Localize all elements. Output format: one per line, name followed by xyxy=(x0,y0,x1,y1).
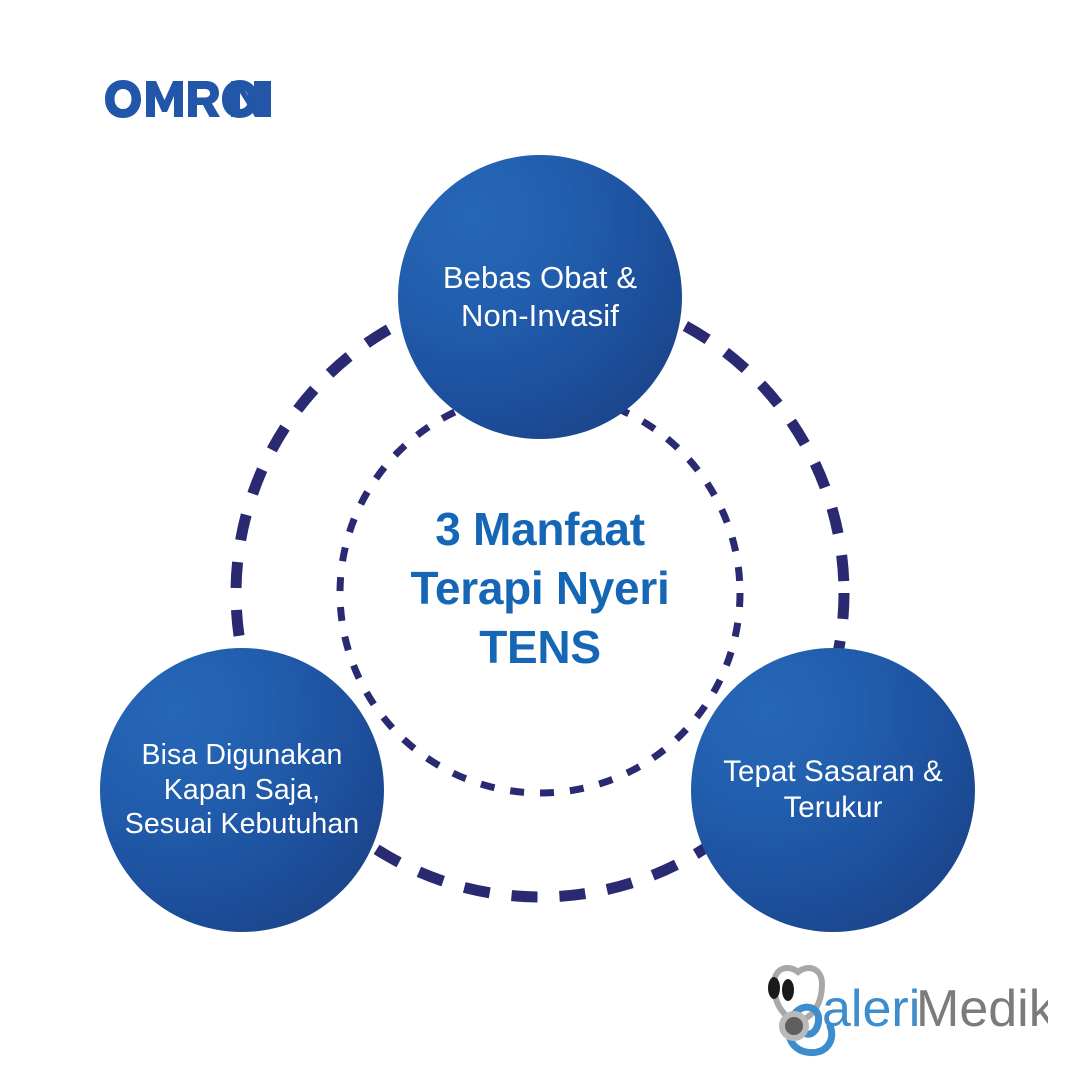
galeri-medika-watermark: aleri Medika xyxy=(752,962,1048,1058)
infographic-canvas: Bebas Obat & Non-Invasif Bisa Digunakan … xyxy=(0,0,1080,1080)
benefit-label-kapan-saja: Bisa Digunakan Kapan Saja, Sesuai Kebutu… xyxy=(119,738,366,842)
headline-line-1: 3 Manfaat xyxy=(355,500,725,559)
watermark-text-secondary: Medika xyxy=(916,980,1048,1038)
benefit-bubble-tepat-sasaran[interactable]: Tepat Sasaran & Terukur xyxy=(691,648,975,932)
headline-line-3: TENS xyxy=(355,618,725,677)
headline-line-2: Terapi Nyeri xyxy=(355,559,725,618)
center-headline: 3 Manfaat Terapi Nyeri TENS xyxy=(355,500,725,677)
benefit-label-tepat-sasaran: Tepat Sasaran & Terukur xyxy=(717,754,949,826)
benefit-bubble-bebas-obat[interactable]: Bebas Obat & Non-Invasif xyxy=(398,155,682,439)
benefit-bubble-kapan-saja[interactable]: Bisa Digunakan Kapan Saja, Sesuai Kebutu… xyxy=(100,648,384,932)
watermark-text-primary: aleri xyxy=(822,980,920,1038)
benefit-label-bebas-obat: Bebas Obat & Non-Invasif xyxy=(437,259,643,335)
